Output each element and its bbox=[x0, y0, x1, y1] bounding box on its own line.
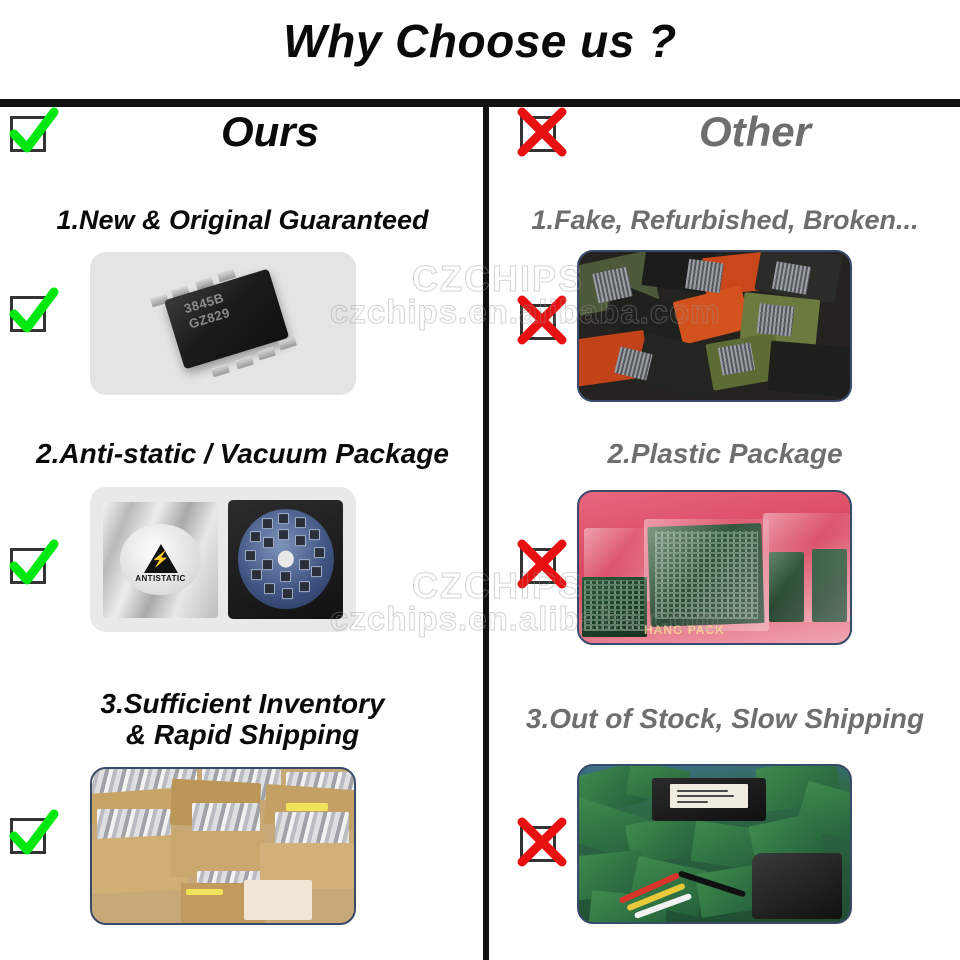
check-icon bbox=[4, 104, 62, 162]
antistatic-label: ANTISTATIC bbox=[120, 574, 200, 583]
check-mark-row-1 bbox=[8, 292, 50, 334]
ic-chip-photo: 3845B GZ829 bbox=[90, 252, 356, 395]
page-title: Why Choose us ? bbox=[0, 14, 960, 68]
module-label bbox=[670, 784, 747, 808]
check-icon bbox=[4, 536, 62, 594]
antistatic-bag-reel-photo: ⚡ ANTISTATIC bbox=[90, 487, 356, 632]
check-mark-row-3 bbox=[8, 814, 50, 856]
black-pad bbox=[752, 853, 841, 919]
cross-mark-row-3 bbox=[518, 822, 560, 864]
check-icon bbox=[4, 284, 62, 342]
black-module bbox=[652, 778, 766, 820]
check-icon bbox=[4, 806, 62, 864]
cross-icon bbox=[514, 536, 572, 594]
other-caption-1: 1.Fake, Refurbished, Broken... bbox=[495, 205, 955, 235]
ours-caption-3: 3.Sufficient Inventory & Rapid Shipping bbox=[10, 688, 475, 751]
ours-caption-3-line1: 3.Sufficient Inventory bbox=[10, 688, 475, 719]
ours-caption-3-line2: & Rapid Shipping bbox=[10, 719, 475, 750]
column-header-other: Other bbox=[560, 108, 950, 156]
cross-mark-row-2 bbox=[518, 544, 560, 586]
other-caption-3: 3.Out of Stock, Slow Shipping bbox=[495, 703, 955, 734]
inventory-boxes-photo bbox=[90, 767, 356, 925]
other-caption-2: 2.Plastic Package bbox=[495, 438, 955, 469]
horizontal-divider bbox=[0, 99, 960, 107]
check-mark-row-2 bbox=[8, 544, 50, 586]
check-mark-header bbox=[8, 112, 50, 154]
ours-caption-1: 1.New & Original Guaranteed bbox=[10, 205, 475, 235]
comparison-infographic: Why Choose us ? Ours Other 1.New & Origi… bbox=[0, 0, 960, 960]
cross-icon bbox=[514, 292, 572, 350]
component-reel bbox=[228, 500, 342, 619]
vertical-divider bbox=[483, 107, 489, 960]
cross-mark-row-1 bbox=[518, 300, 560, 342]
pcb-plastic-bag-photo: HANG PACK bbox=[577, 490, 852, 645]
column-header-ours: Ours bbox=[60, 108, 480, 156]
antistatic-bag: ⚡ ANTISTATIC bbox=[103, 502, 217, 618]
cross-icon bbox=[514, 814, 572, 872]
ours-caption-2: 2.Anti-static / Vacuum Package bbox=[10, 438, 475, 469]
pack-text: HANG PACK bbox=[644, 623, 725, 637]
cross-mark-header bbox=[518, 112, 560, 154]
salvaged-chip-pile-photo bbox=[577, 250, 852, 402]
green-pcb-scrap-photo bbox=[577, 764, 852, 924]
